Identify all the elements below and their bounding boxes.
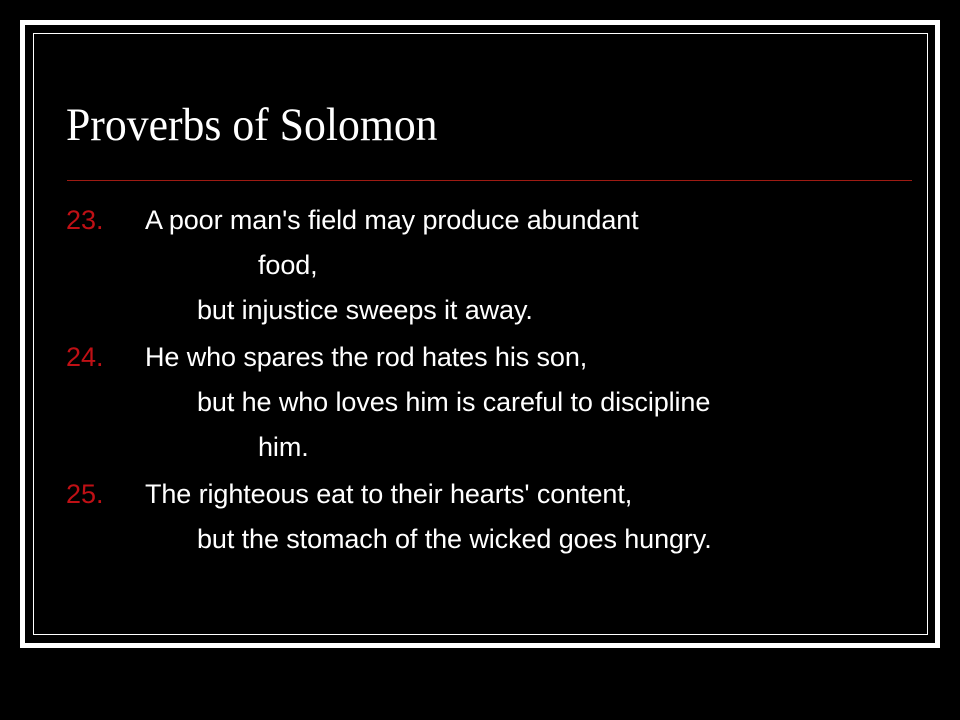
- slide-canvas: Proverbs of Solomon 23.A poor man's fiel…: [0, 0, 960, 720]
- proverb-line: A poor man's field may produce abundant: [145, 198, 910, 243]
- proverb-text: The righteous eat to their hearts' conte…: [145, 472, 910, 562]
- proverb-text: He who spares the rod hates his son,but …: [145, 335, 910, 470]
- proverb-line: He who spares the rod hates his son,: [145, 335, 910, 380]
- proverb-number: 25.: [66, 472, 128, 517]
- page-title: Proverbs of Solomon: [66, 96, 857, 154]
- proverb-number: 24.: [66, 335, 128, 380]
- proverb-list: 23.A poor man's field may produce abunda…: [60, 198, 910, 564]
- list-item: 25.The righteous eat to their hearts' co…: [60, 472, 910, 562]
- proverb-line: The righteous eat to their hearts' conte…: [145, 472, 910, 517]
- list-item: 23.A poor man's field may produce abunda…: [60, 198, 910, 333]
- proverb-line: food,: [145, 243, 910, 288]
- title-divider: [67, 180, 912, 181]
- proverb-text: A poor man's field may produce abundantf…: [145, 198, 910, 333]
- proverb-number: 23.: [66, 198, 128, 243]
- proverb-line: him.: [145, 425, 910, 470]
- list-item: 24.He who spares the rod hates his son,b…: [60, 335, 910, 470]
- proverb-line: but injustice sweeps it away.: [145, 288, 910, 333]
- proverb-line: but the stomach of the wicked goes hungr…: [145, 517, 910, 562]
- proverb-line: but he who loves him is careful to disci…: [145, 380, 910, 425]
